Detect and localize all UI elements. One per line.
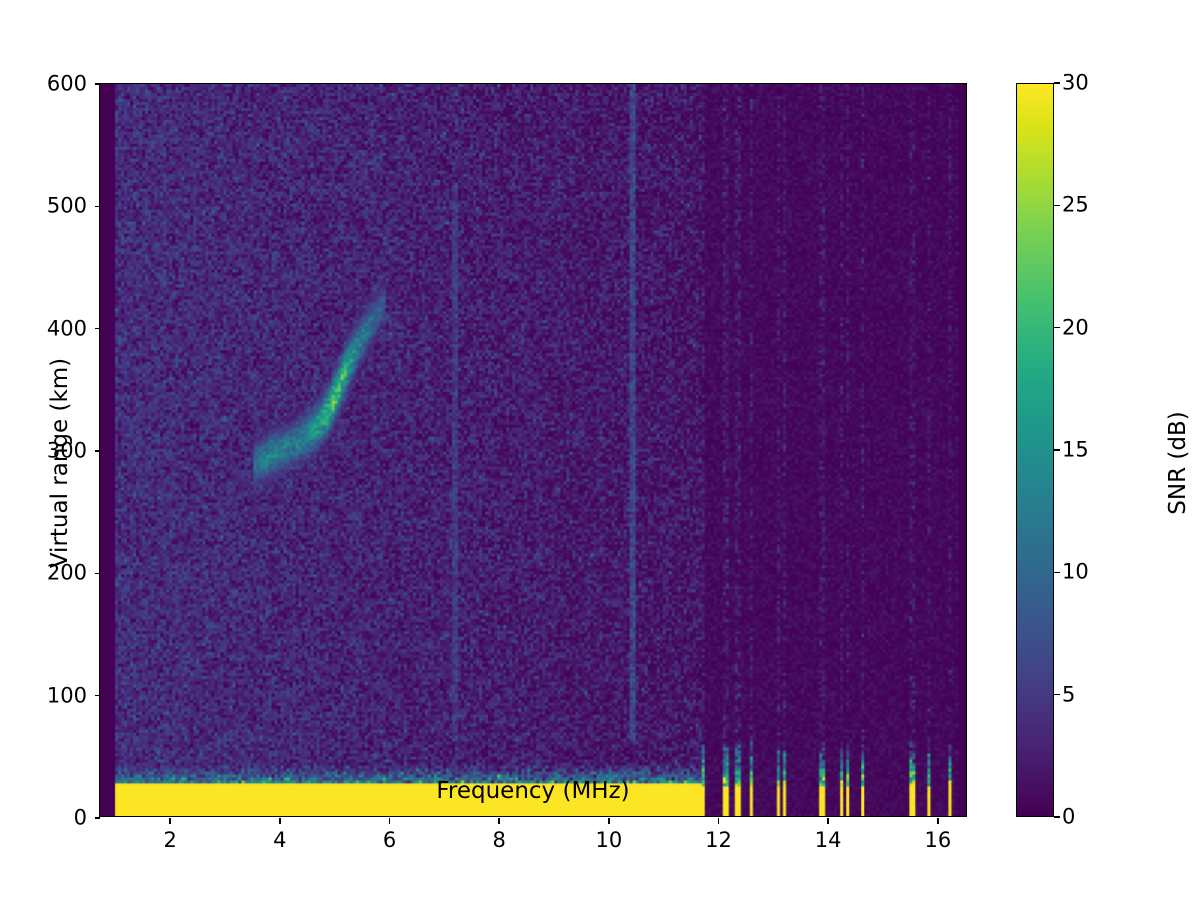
ionogram-heatmap bbox=[100, 84, 966, 816]
colorbar-gradient bbox=[1017, 84, 1053, 816]
ionogram-axes: 0100200300400500600246810121416 bbox=[99, 83, 967, 817]
colorbar-tick-label: 30 bbox=[1062, 73, 1089, 94]
colorbar bbox=[1016, 83, 1054, 817]
x-tick-label: 2 bbox=[163, 830, 176, 851]
x-tick bbox=[827, 818, 828, 824]
y-tick bbox=[95, 695, 101, 696]
x-tick-label: 14 bbox=[815, 830, 842, 851]
y-tick-label: 500 bbox=[47, 196, 87, 217]
x-tick bbox=[389, 818, 390, 824]
colorbar-tick bbox=[1054, 572, 1060, 573]
x-tick bbox=[169, 818, 170, 824]
colorbar-tick-label: 25 bbox=[1062, 195, 1089, 216]
colorbar-tick bbox=[1054, 205, 1060, 206]
x-tick-label: 6 bbox=[383, 830, 396, 851]
colorbar-label: SNR (dB) bbox=[1165, 263, 1191, 663]
x-tick bbox=[279, 818, 280, 824]
colorbar-tick-label: 0 bbox=[1062, 807, 1075, 828]
y-tick bbox=[95, 83, 101, 84]
x-tick bbox=[937, 818, 938, 824]
y-tick-label: 100 bbox=[47, 685, 87, 706]
y-axis-label: Virtual range (km) bbox=[47, 263, 73, 663]
y-tick bbox=[95, 573, 101, 574]
ionogram-figure: IRF Kiruna Ionosonde KI167 2025-10-12 13… bbox=[0, 0, 1200, 900]
colorbar-tick-label: 5 bbox=[1062, 684, 1075, 705]
x-tick-label: 8 bbox=[492, 830, 505, 851]
y-tick bbox=[95, 206, 101, 207]
y-tick-label: 600 bbox=[47, 74, 87, 95]
colorbar-tick bbox=[1054, 82, 1060, 83]
x-tick-label: 16 bbox=[924, 830, 951, 851]
colorbar-tick bbox=[1054, 816, 1060, 817]
y-tick-label: 0 bbox=[74, 808, 87, 829]
x-tick bbox=[718, 818, 719, 824]
x-tick-label: 10 bbox=[595, 830, 622, 851]
y-tick bbox=[95, 817, 101, 818]
colorbar-tick bbox=[1054, 694, 1060, 695]
colorbar-tick-label: 15 bbox=[1062, 440, 1089, 461]
x-tick-label: 4 bbox=[273, 830, 286, 851]
y-tick bbox=[95, 450, 101, 451]
colorbar-tick-label: 10 bbox=[1062, 562, 1089, 583]
colorbar-tick bbox=[1054, 327, 1060, 328]
colorbar-tick-label: 20 bbox=[1062, 317, 1089, 338]
colorbar-tick bbox=[1054, 449, 1060, 450]
y-tick bbox=[95, 328, 101, 329]
x-tick bbox=[498, 818, 499, 824]
x-axis-label: Frequency (MHz) bbox=[99, 778, 967, 804]
x-tick bbox=[608, 818, 609, 824]
x-tick-label: 12 bbox=[705, 830, 732, 851]
